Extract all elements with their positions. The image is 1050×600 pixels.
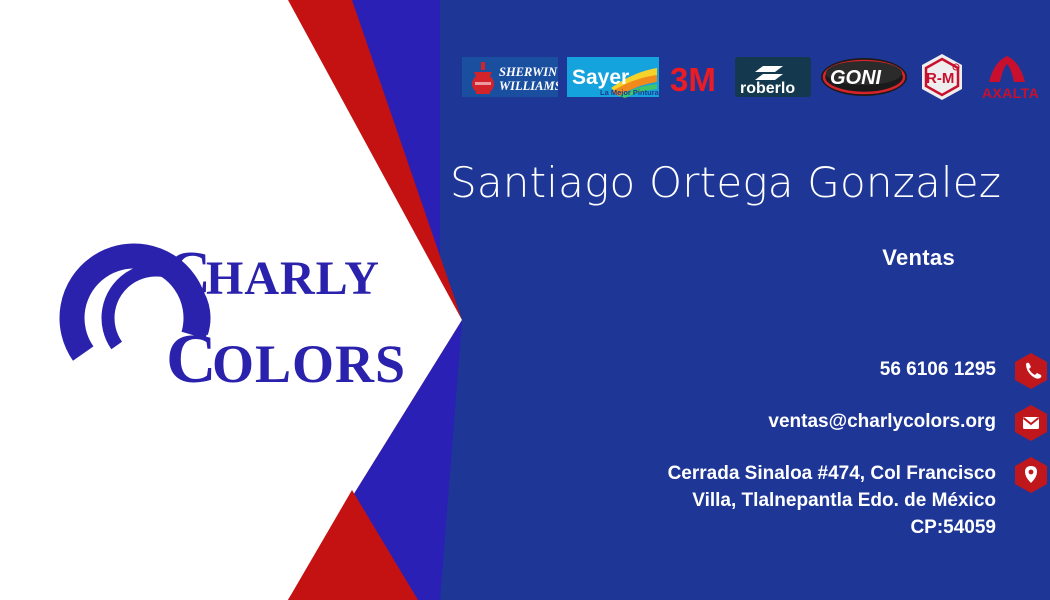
company-logo: C HARLY C OLORS <box>38 222 408 412</box>
brand-logo-axalta: AXALTA <box>976 53 1038 101</box>
contact-row-email[interactable]: ventas@charlycolors.org <box>440 404 1050 442</box>
brand-logo-3m: 3M <box>668 53 726 101</box>
logo-line1-cap: C <box>166 240 211 308</box>
sayer-tagline: La Mejor Pintura <box>600 88 659 97</box>
contact-row-phone[interactable]: 56 6106 1295 <box>440 352 1050 390</box>
phone-icon <box>1014 352 1048 390</box>
contact-block: 56 6106 1295 ventas@charlycolors.org <box>440 352 1050 555</box>
logo-line1-rest: HARLY <box>206 252 380 305</box>
location-icon-wrap <box>1012 456 1050 494</box>
phone-value: 56 6106 1295 <box>880 352 996 383</box>
goni-text: GONI <box>830 67 882 89</box>
phone-icon-wrap <box>1012 352 1050 390</box>
person-role: Ventas <box>450 245 955 271</box>
logo-line2-rest: OLORS <box>212 334 406 394</box>
axalta-text: AXALTA <box>982 85 1038 101</box>
email-icon <box>1014 404 1048 442</box>
contact-row-address[interactable]: Cerrada Sinaloa #474, Col Francisco Vill… <box>440 456 1050 541</box>
brand-logo-sayer: Sayer La Mejor Pintura <box>567 53 659 101</box>
person-name: Santiago Ortega Gonzalez <box>450 158 965 207</box>
brand-logo-roberlo: roberlo <box>735 53 811 101</box>
email-value: ventas@charlycolors.org <box>768 404 996 435</box>
brand-logo-strip: SHERWIN WILLIAMS. Sayer La Mejor Pintura <box>462 52 1032 102</box>
logo-line2-cap: C <box>166 321 217 398</box>
email-icon-wrap <box>1012 404 1050 442</box>
brand-logo-rm: R-M <box>917 53 967 101</box>
sherwin-text-line2: WILLIAMS. <box>499 79 558 93</box>
address-line3: CP:54059 <box>668 514 996 541</box>
location-pin-icon <box>1014 456 1048 494</box>
axalta-a-icon <box>989 56 1025 82</box>
info-panel: SHERWIN WILLIAMS. Sayer La Mejor Pintura <box>440 0 1050 600</box>
sayer-text: Sayer <box>572 66 629 89</box>
address-line1: Cerrada Sinaloa #474, Col Francisco <box>668 460 996 487</box>
brand-logo-goni: GONI <box>820 53 908 101</box>
business-card: C HARLY C OLORS SHERWIN <box>0 0 1050 600</box>
rm-text: R-M <box>926 70 954 87</box>
roberlo-text: roberlo <box>740 80 795 97</box>
brand-logo-sherwin-williams: SHERWIN WILLIAMS. <box>462 53 558 101</box>
address-line2: Villa, Tlalnepantla Edo. de México <box>668 487 996 514</box>
sherwin-text-line1: SHERWIN <box>499 65 558 79</box>
address-value: Cerrada Sinaloa #474, Col Francisco Vill… <box>668 456 996 541</box>
3m-text: 3M <box>670 61 716 98</box>
